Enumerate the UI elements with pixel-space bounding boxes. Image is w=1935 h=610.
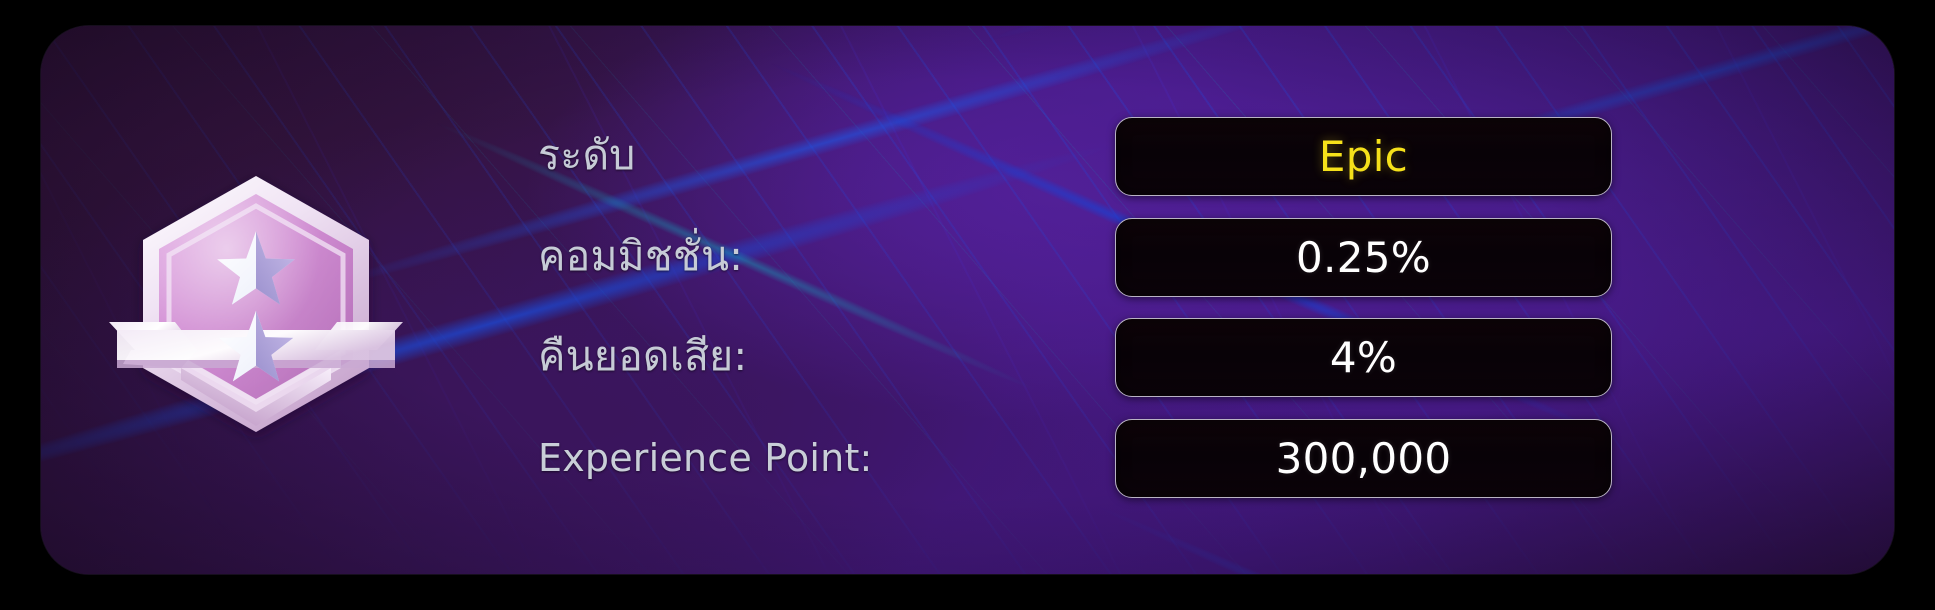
row-label-experience-point: Experience Point: xyxy=(538,419,873,496)
row-value-box-rank[interactable]: Epic xyxy=(1115,117,1612,196)
row-value-box-experience-point[interactable]: 300,000 xyxy=(1115,419,1612,498)
tier-card: ระดับ Epic คอมมิชชั่น: 0.25% คืนยอดเสีย:… xyxy=(41,26,1894,574)
row-value-experience-point: 300,000 xyxy=(1276,438,1452,480)
rank-tier-card-screen: ระดับ Epic คอมมิชชั่น: 0.25% คืนยอดเสีย:… xyxy=(0,0,1935,610)
tier-row: ระดับ Epic xyxy=(41,117,1894,194)
row-value-cashback: 4% xyxy=(1330,337,1397,379)
row-value-box-commission[interactable]: 0.25% xyxy=(1115,218,1612,297)
tier-detail-rows: ระดับ Epic คอมมิชชั่น: 0.25% คืนยอดเสีย:… xyxy=(41,26,1894,574)
row-label-rank: ระดับ xyxy=(538,117,636,194)
row-value-commission: 0.25% xyxy=(1296,237,1431,279)
tier-row: คอมมิชชั่น: 0.25% xyxy=(41,218,1894,295)
row-label-commission: คอมมิชชั่น: xyxy=(538,218,743,295)
tier-row: Experience Point: 300,000 xyxy=(41,419,1894,496)
tier-row: คืนยอดเสีย: 4% xyxy=(41,318,1894,395)
row-label-cashback: คืนยอดเสีย: xyxy=(538,318,747,395)
row-value-rank: Epic xyxy=(1319,136,1408,178)
row-value-box-cashback[interactable]: 4% xyxy=(1115,318,1612,397)
